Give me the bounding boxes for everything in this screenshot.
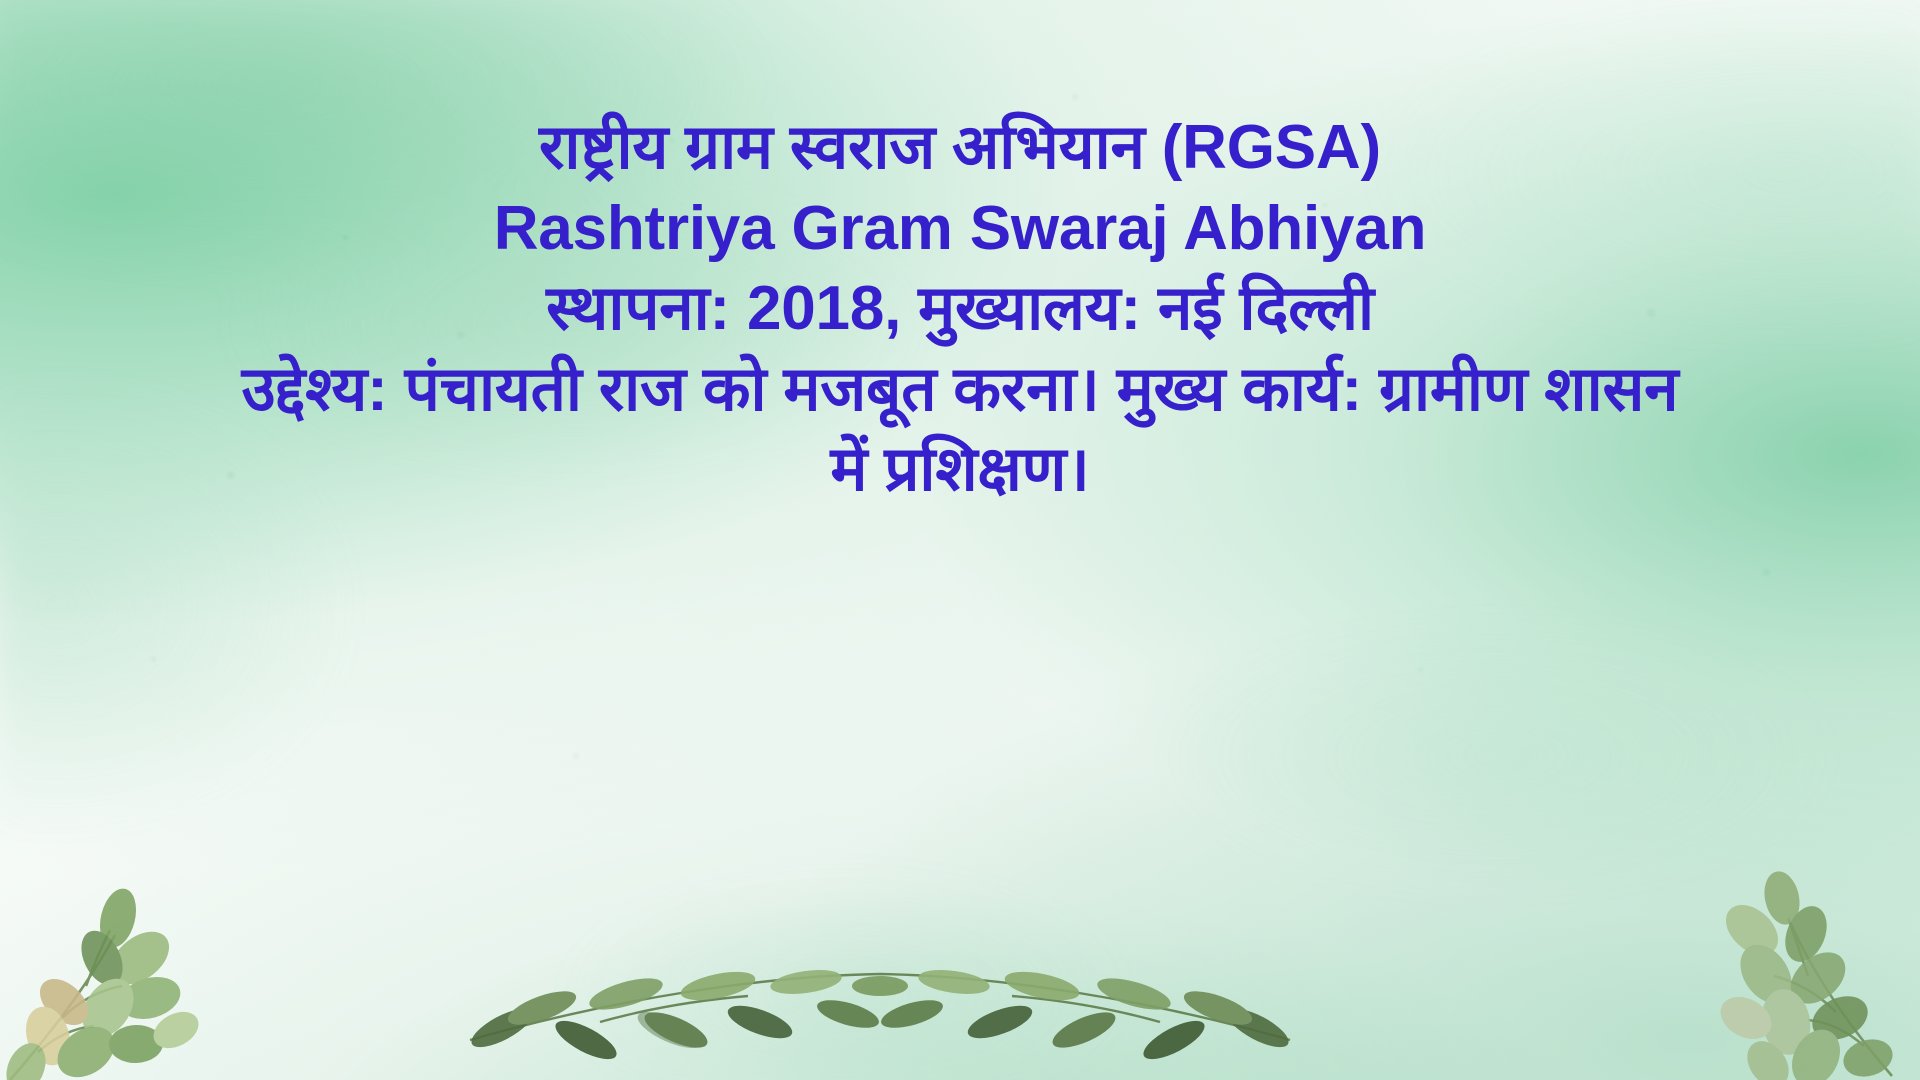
eucalyptus-leaf-sprig-right [1640, 826, 1910, 1080]
established-headquarters-line: स्थापना: 2018, मुख्यालय: नई दिल्ली [70, 269, 1850, 350]
olive-branch-sprig-center [430, 890, 1330, 1080]
eucalyptus-leaf-sprig-left [0, 830, 290, 1080]
slide-canvas: राष्ट्रीय ग्राम स्वराज अभियान (RGSA) Ras… [0, 0, 1920, 1080]
title-hindi: राष्ट्रीय ग्राम स्वराज अभियान (RGSA) [70, 108, 1850, 189]
title-english: Rashtriya Gram Swaraj Abhiyan [70, 189, 1850, 270]
objective-work-line: उद्देश्य: पंचायती राज को मजबूत करना। मुख… [220, 350, 1700, 511]
slide-text-block: राष्ट्रीय ग्राम स्वराज अभियान (RGSA) Ras… [0, 108, 1920, 511]
